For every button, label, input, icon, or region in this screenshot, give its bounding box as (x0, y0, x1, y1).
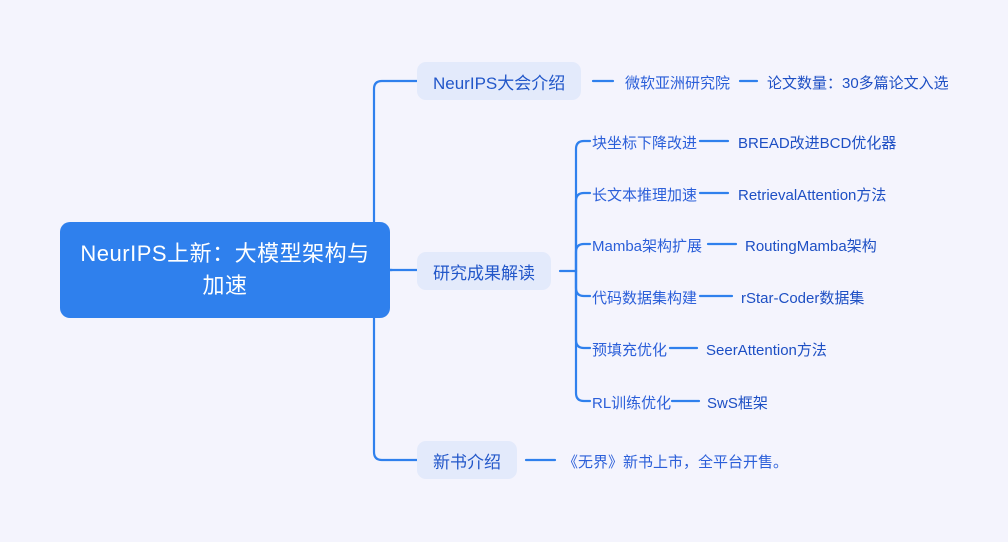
leaf-node-rstar-coder[interactable]: rStar-Coder数据集 (741, 286, 864, 308)
leaf-node-retrievalattention[interactable]: RetrievalAttention方法 (738, 183, 886, 205)
leaf-node-rl-training-optimization[interactable]: RL训练优化 (592, 391, 671, 413)
link-subtrunk-bcd (576, 141, 590, 271)
branch-node-research-results[interactable]: 研究成果解读 (417, 252, 551, 290)
link-subtrunk-prefill (576, 271, 590, 348)
leaf-node-long-context-inference[interactable]: 长文本推理加速 (592, 183, 697, 205)
leaf-node-routingmamba[interactable]: RoutingMamba架构 (745, 234, 877, 256)
leaf-node-paper-count[interactable]: 论文数量：30多篇论文入选 (767, 71, 949, 93)
link-subtrunk-longctx (576, 193, 590, 271)
branch-node-new-book[interactable]: 新书介绍 (417, 441, 517, 479)
link-subtrunk-rl (576, 271, 590, 401)
mindmap-canvas: NeurIPS上新：大模型架构与加速 NeurIPS大会介绍 研究成果解读 新书… (0, 0, 1008, 542)
branch-node-neurips-intro[interactable]: NeurIPS大会介绍 (417, 62, 581, 100)
root-node[interactable]: NeurIPS上新：大模型架构与加速 (60, 222, 390, 318)
leaf-node-mamba-extension[interactable]: Mamba架构扩展 (592, 234, 702, 256)
leaf-node-book-release[interactable]: 《无界》新书上市，全平台开售。 (563, 450, 788, 472)
leaf-node-msra[interactable]: 微软亚洲研究院 (625, 71, 730, 93)
link-subtrunk-mamba (576, 244, 590, 271)
leaf-node-prefill-optimization[interactable]: 预填充优化 (592, 338, 667, 360)
leaf-node-bread-optimizer[interactable]: BREAD改进BCD优化器 (738, 131, 896, 153)
leaf-node-seerattention[interactable]: SeerAttention方法 (706, 338, 827, 360)
leaf-node-code-dataset-construction[interactable]: 代码数据集构建 (592, 286, 697, 308)
leaf-node-block-coordinate-descent[interactable]: 块坐标下降改进 (592, 131, 697, 153)
leaf-node-sws-framework[interactable]: SwS框架 (707, 391, 768, 413)
link-subtrunk-codedata (576, 271, 590, 296)
